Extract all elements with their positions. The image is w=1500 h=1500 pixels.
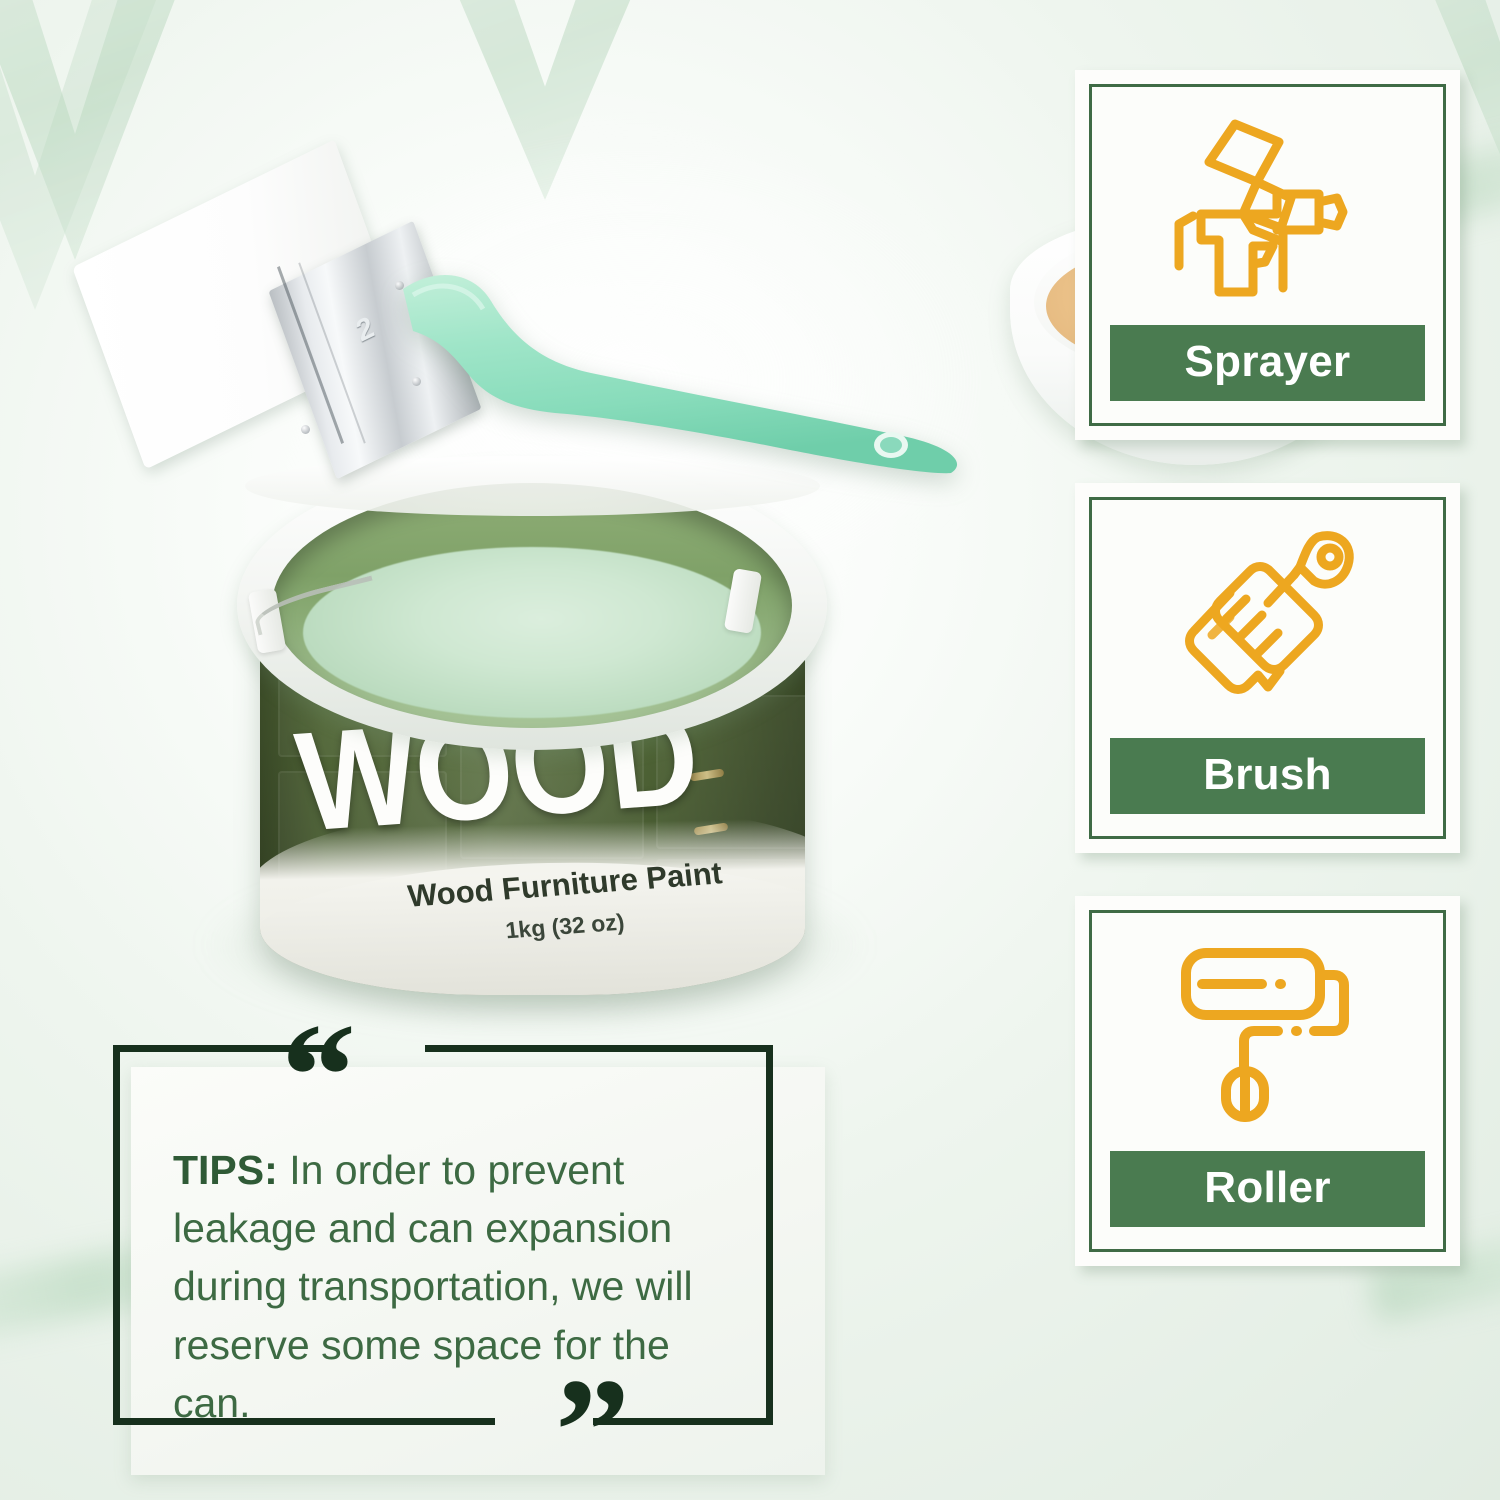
product-image-canvas: Dwil WOOD Wood Furniture Paint 1kg (32 o…: [0, 0, 1500, 1500]
sprayer-icon-area: [1092, 87, 1443, 325]
paint-roller-icon: [1168, 937, 1368, 1127]
card-label-brush: Brush: [1110, 738, 1425, 814]
card-inner-border: Brush: [1089, 497, 1446, 839]
frame-right: [766, 1045, 773, 1425]
tips-callout: “ ” TIPS: In order to prevent leakage an…: [113, 1045, 825, 1475]
open-quote-mark: “: [281, 1001, 356, 1151]
card-label-sprayer: Sprayer: [1110, 325, 1425, 401]
frame-top-right-segment: [425, 1045, 773, 1052]
frame-left: [113, 1045, 120, 1425]
roller-icon-area: [1092, 913, 1443, 1151]
card-inner-border: Roller: [1089, 910, 1446, 1252]
brush-icon-area: [1092, 500, 1443, 738]
paint-sprayer-icon: [1173, 106, 1363, 306]
paint-brush: 2: [95, 195, 995, 495]
tips-text: TIPS: In order to prevent leakage and ca…: [173, 1141, 751, 1432]
paint-brush-icon: [1168, 519, 1368, 719]
card-label-roller: Roller: [1110, 1151, 1425, 1227]
feature-card-brush[interactable]: Brush: [1075, 483, 1460, 853]
paint-surface: [303, 547, 761, 719]
feature-card-sprayer[interactable]: Sprayer: [1075, 70, 1460, 440]
feature-card-roller[interactable]: Roller: [1075, 896, 1460, 1266]
brush-handle: [395, 267, 975, 477]
card-inner-border: Sprayer: [1089, 84, 1446, 426]
tips-label: TIPS:: [173, 1147, 278, 1193]
ferrule-rivet: [301, 425, 310, 434]
